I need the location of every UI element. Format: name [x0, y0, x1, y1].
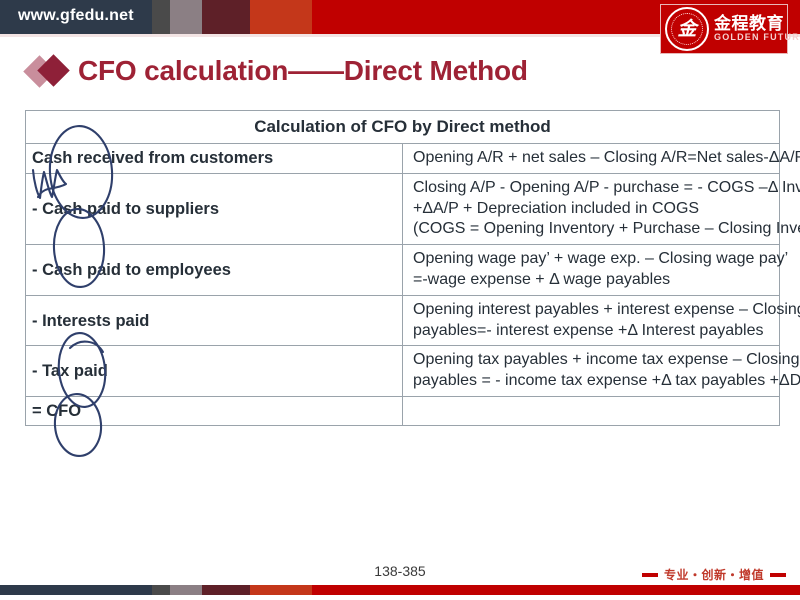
- header-band-3: [170, 0, 202, 34]
- site-url: www.gfedu.net: [18, 7, 134, 25]
- row-label-cfo-total: = CFO: [26, 396, 403, 425]
- logo-text: 金程教育 GOLDEN FUTURE: [714, 15, 800, 42]
- formula-line: Opening A/R + net sales – Closing A/R=Ne…: [413, 148, 771, 169]
- page-title: CFO calculation——Direct Method: [78, 55, 528, 87]
- tagline-text: 专业・创新・增值: [664, 566, 764, 583]
- formula-line: =-wage expense + Δ wage payables: [413, 270, 771, 291]
- tagline-dash-left-icon: [642, 573, 658, 577]
- row-formula-interests-paid: Opening interest payables + interest exp…: [403, 295, 780, 346]
- header-band-5: [250, 0, 312, 34]
- table-header-row: Calculation of CFO by Direct method: [26, 111, 780, 144]
- footer-band-5: [250, 585, 312, 595]
- row-formula-cash-paid-employees: Opening wage pay’ + wage exp. – Closing …: [403, 245, 780, 296]
- row-label-cash-received: Cash received from customers: [26, 144, 403, 174]
- footer-band-2: [152, 585, 170, 595]
- row-label-cash-paid-suppliers: - Cash paid to suppliers: [26, 173, 403, 244]
- footer-tagline: 专业・创新・增值: [642, 566, 786, 583]
- logo-seal-icon: 金: [665, 7, 709, 51]
- footer-band-4: [202, 585, 250, 595]
- formula-line: payables=- interest expense +Δ Interest …: [413, 321, 771, 342]
- formula-line: (COGS = Opening Inventory + Purchase – C…: [413, 219, 771, 240]
- slide: www.gfedu.net 金 金程教育 GOLDEN FUTURE CFO c…: [0, 0, 800, 600]
- row-formula-cash-paid-suppliers: Closing A/P - Opening A/P - purchase = -…: [403, 173, 780, 244]
- formula-line: Opening interest payables + interest exp…: [413, 300, 771, 321]
- table-row: - Cash paid to employees Opening wage pa…: [26, 245, 780, 296]
- table-row: - Tax paid Opening tax payables + income…: [26, 346, 780, 397]
- row-label-interests-paid: - Interests paid: [26, 295, 403, 346]
- header-band-2: [152, 0, 170, 34]
- tagline-dash-right-icon: [770, 573, 786, 577]
- formula-line: payables = - income tax expense +Δ tax p…: [413, 371, 771, 392]
- table-row: - Cash paid to suppliers Closing A/P - O…: [26, 173, 780, 244]
- logo-seal-mark: 金: [677, 20, 696, 39]
- cfo-calculation-table: Calculation of CFO by Direct method Cash…: [25, 110, 780, 426]
- logo: 金 金程教育 GOLDEN FUTURE: [660, 4, 788, 54]
- footer-band-6: [312, 585, 800, 595]
- table-heading: Calculation of CFO by Direct method: [26, 111, 780, 144]
- row-formula-cash-received: Opening A/R + net sales – Closing A/R=Ne…: [403, 144, 780, 174]
- table-row: = CFO: [26, 396, 780, 425]
- formula-line: Closing A/P - Opening A/P - purchase = -…: [413, 178, 771, 199]
- table-body: Calculation of CFO by Direct method Cash…: [26, 111, 780, 426]
- formula-line: +ΔA/P + Depreciation included in COGS: [413, 199, 771, 220]
- footer-color-bar: [0, 585, 800, 595]
- table-row: Cash received from customers Opening A/R…: [26, 144, 780, 174]
- diamond-bullet-icon: [26, 55, 78, 87]
- logo-name-en: GOLDEN FUTURE: [714, 33, 800, 42]
- logo-name-cn: 金程教育: [714, 15, 800, 33]
- row-label-cash-paid-employees: - Cash paid to employees: [26, 245, 403, 296]
- slide-title-row: CFO calculation——Direct Method: [26, 50, 528, 92]
- formula-line: Opening wage pay’ + wage exp. – Closing …: [413, 249, 771, 270]
- table-row: - Interests paid Opening interest payabl…: [26, 295, 780, 346]
- row-formula-tax-paid: Opening tax payables + income tax expens…: [403, 346, 780, 397]
- footer-band-1: [0, 585, 152, 595]
- row-label-tax-paid: - Tax paid: [26, 346, 403, 397]
- header-band-4: [202, 0, 250, 34]
- footer-band-3: [170, 585, 202, 595]
- formula-line: Opening tax payables + income tax expens…: [413, 350, 771, 371]
- row-formula-cfo-total: [403, 396, 780, 425]
